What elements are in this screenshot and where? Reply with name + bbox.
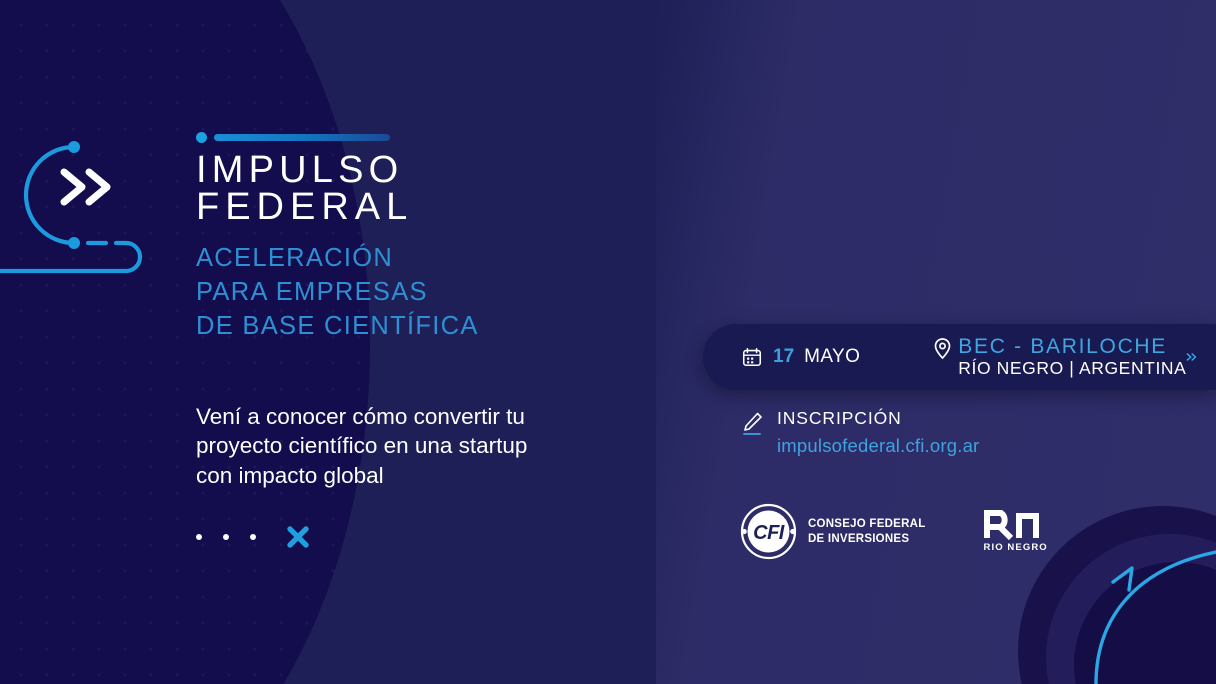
decor-dot-1 — [196, 534, 202, 540]
lead-paragraph: Vení a conocer cómo convertir tu proyect… — [196, 402, 616, 490]
event-double-chevron-icon[interactable] — [1186, 343, 1198, 371]
event-region: RÍO NEGRO | ARGENTINA — [958, 358, 1186, 379]
svg-text:CFI: CFI — [753, 522, 785, 544]
pencil-icon — [740, 411, 764, 437]
decor-dot-3 — [250, 534, 256, 540]
inscription-block[interactable]: INSCRIPCIÓN impulsofederal.cfi.org.ar — [740, 408, 979, 459]
circuit-arc-graphic — [0, 130, 175, 290]
x-mark-icon — [286, 525, 310, 549]
logo-line-2: FEDERAL — [196, 189, 626, 226]
flyer-canvas: IMPULSO FEDERAL ACELERACIÓN PARA EMPRESA… — [0, 0, 1216, 684]
logo-tagline-line-3: DE BASE CIENTÍFICA — [196, 310, 626, 344]
event-info-bar[interactable]: 17 MAYO BEC - BARILOCHE RÍO NEGRO | ARGE… — [703, 324, 1216, 390]
brand-logo-block: IMPULSO FEDERAL ACELERACIÓN PARA EMPRESA… — [196, 132, 626, 343]
rio-negro-logo: RIO NEGRO — [984, 510, 1048, 553]
decorative-dots-row — [196, 525, 310, 549]
logo-rule-dot — [196, 132, 207, 143]
decor-dot-2 — [223, 534, 229, 540]
event-date-group: 17 MAYO — [741, 346, 860, 368]
cfi-mark-icon: CFI — [740, 503, 797, 560]
event-date-month: MAYO — [804, 346, 860, 368]
inscription-text: INSCRIPCIÓN impulsofederal.cfi.org.ar — [777, 408, 979, 459]
inscription-url[interactable]: impulsofederal.cfi.org.ar — [777, 434, 979, 459]
cfi-name: CONSEJO FEDERAL DE INVERSIONES — [808, 517, 926, 546]
calendar-icon — [741, 346, 763, 368]
partner-logos: CFI CONSEJO FEDERAL DE INVERSIONES RIO N… — [740, 503, 1048, 560]
event-location-group: BEC - BARILOCHE RÍO NEGRO | ARGENTINA — [933, 335, 1186, 380]
lead-line-1: Vení a conocer cómo convertir tu — [196, 402, 616, 431]
arrow-arc-graphic — [1066, 524, 1216, 684]
logo-tagline-line-1: ACELERACIÓN — [196, 242, 626, 276]
lead-line-3: con impacto global — [196, 461, 616, 490]
rn-name: RIO NEGRO — [984, 542, 1048, 553]
location-pin-icon — [933, 337, 952, 361]
double-chevron-right-icon — [58, 165, 120, 209]
rn-mark-icon — [984, 510, 1046, 540]
lead-line-2: proyecto científico en una startup — [196, 431, 616, 460]
cfi-logo: CFI CONSEJO FEDERAL DE INVERSIONES — [740, 503, 926, 560]
event-location-text: BEC - BARILOCHE RÍO NEGRO | ARGENTINA — [958, 335, 1186, 380]
logo-accent-rule — [196, 132, 626, 143]
logo-tagline: ACELERACIÓN PARA EMPRESAS DE BASE CIENTÍ… — [196, 242, 626, 344]
logo-line-1: IMPULSO — [196, 152, 626, 189]
cfi-name-line-2: DE INVERSIONES — [808, 532, 926, 546]
cfi-name-line-1: CONSEJO FEDERAL — [808, 517, 926, 531]
event-date-day: 17 — [773, 346, 794, 368]
event-venue: BEC - BARILOCHE — [958, 335, 1186, 359]
logo-tagline-line-2: PARA EMPRESAS — [196, 276, 626, 310]
inscription-label: INSCRIPCIÓN — [777, 408, 979, 430]
logo-rule-bar — [214, 134, 390, 141]
